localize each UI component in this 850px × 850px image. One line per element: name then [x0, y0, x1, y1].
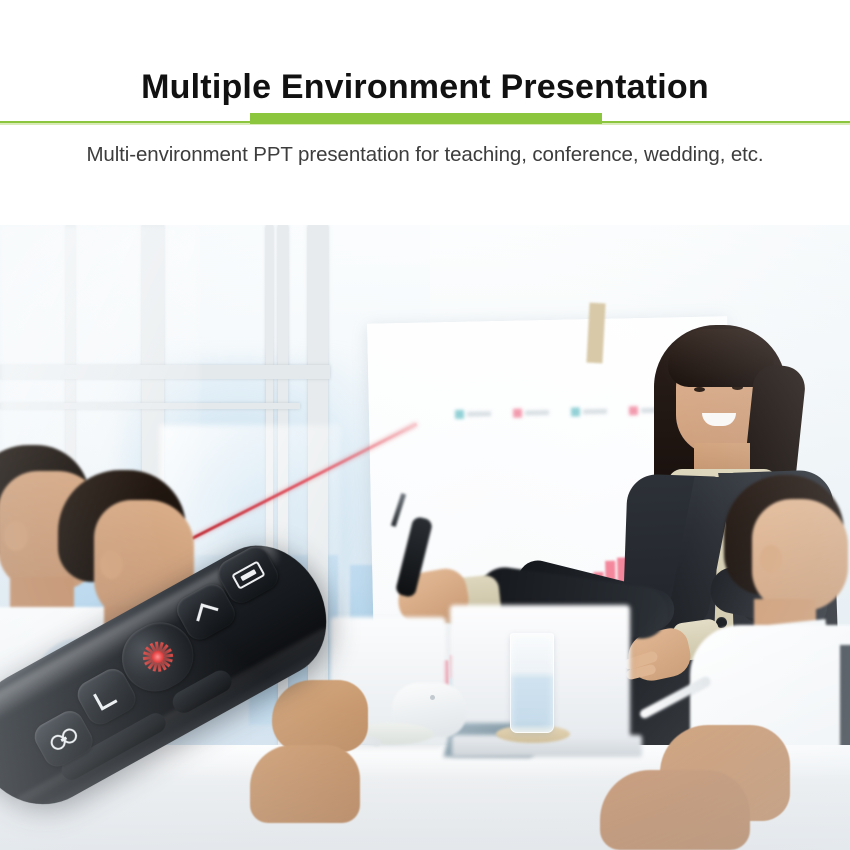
- scene-photo: [0, 225, 850, 850]
- page-title: Multiple Environment Presentation: [0, 68, 850, 107]
- page-subtitle: Multi-environment PPT presentation for t…: [0, 143, 850, 167]
- arrow-up-icon: [190, 597, 222, 627]
- eye-icon: [48, 725, 80, 752]
- ear: [100, 550, 123, 579]
- water-glass: [510, 633, 554, 733]
- arrow-down-icon: [90, 682, 122, 712]
- attendee-hand-left: [272, 680, 368, 752]
- ear: [760, 545, 782, 573]
- legend-label: [467, 411, 491, 417]
- legend-swatch: [513, 409, 522, 418]
- legend-entry: [513, 408, 549, 418]
- header-band: Multiple Environment Presentation Multi-…: [0, 0, 850, 225]
- legend-swatch: [455, 410, 464, 419]
- legend-label: [583, 409, 607, 415]
- product-banner: Multiple Environment Presentation Multi-…: [0, 0, 850, 850]
- ear: [4, 521, 28, 551]
- legend-entry: [455, 409, 491, 419]
- easel-leg: [586, 303, 605, 364]
- eye: [694, 387, 705, 392]
- legend-swatch: [571, 407, 580, 416]
- attendee-hand-right: [600, 770, 750, 850]
- legend-label: [525, 410, 549, 416]
- attendee-hand-left: [250, 745, 360, 823]
- blank-screen-icon: [231, 560, 265, 589]
- mouse-button-seam: [430, 695, 435, 700]
- laser-burst-icon: [137, 636, 178, 677]
- accent-rule-block: [250, 113, 602, 124]
- legend-entry: [571, 407, 607, 417]
